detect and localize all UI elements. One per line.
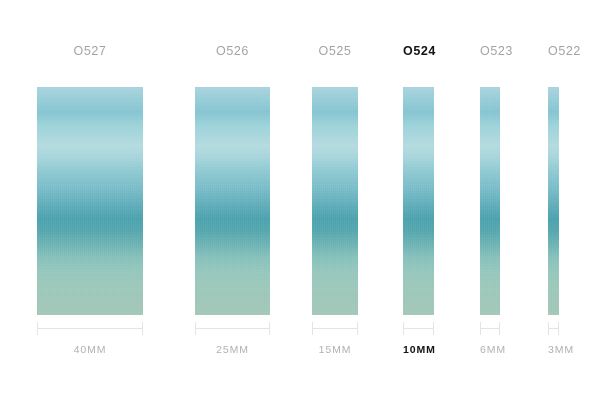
swatch-column[interactable]: O5236MM xyxy=(480,0,500,400)
measure-cap-left xyxy=(195,322,196,335)
swatch-rail: O52740MMO52625MMO52515MMO52410MMO5236MMO… xyxy=(0,0,600,400)
swatch-size-label: 25MM xyxy=(195,344,270,356)
swatch-column[interactable]: O52515MM xyxy=(312,0,358,400)
swatch-size-label: 3MM xyxy=(548,344,559,356)
swatch-code-label: O526 xyxy=(195,44,270,58)
swatch-code-label: O524 xyxy=(403,44,434,58)
swatch-column[interactable]: O52410MM xyxy=(403,0,434,400)
measure-cap-left xyxy=(480,322,481,335)
swatch-code-label: O522 xyxy=(548,44,559,58)
measure-cap-right xyxy=(558,322,559,335)
measure-bar xyxy=(480,322,500,335)
measure-line xyxy=(480,328,500,329)
color-swatch-chip[interactable] xyxy=(312,87,358,315)
measure-line xyxy=(403,328,434,329)
swatch-code-label: O523 xyxy=(480,44,500,58)
color-swatch-chip[interactable] xyxy=(195,87,270,315)
swatch-size-label: 15MM xyxy=(312,344,358,356)
swatch-comparison-board: O52740MMO52625MMO52515MMO52410MMO5236MMO… xyxy=(0,0,600,400)
swatch-column[interactable]: O5223MM xyxy=(548,0,559,400)
swatch-code-label: O525 xyxy=(312,44,358,58)
measure-bar xyxy=(312,322,358,335)
measure-line xyxy=(195,328,270,329)
swatch-column[interactable]: O52625MM xyxy=(195,0,270,400)
color-swatch-chip[interactable] xyxy=(37,87,143,315)
measure-cap-left xyxy=(548,322,549,335)
measure-cap-left xyxy=(37,322,38,335)
measure-cap-right xyxy=(269,322,270,335)
measure-bar xyxy=(195,322,270,335)
measure-bar xyxy=(403,322,434,335)
swatch-size-label: 40MM xyxy=(37,344,143,356)
swatch-column[interactable]: O52740MM xyxy=(37,0,143,400)
measure-line xyxy=(312,328,358,329)
color-swatch-chip[interactable] xyxy=(480,87,500,315)
swatch-size-label: 6MM xyxy=(480,344,500,356)
measure-cap-right xyxy=(142,322,143,335)
measure-cap-right xyxy=(499,322,500,335)
measure-cap-left xyxy=(312,322,313,335)
measure-cap-right xyxy=(357,322,358,335)
measure-cap-left xyxy=(403,322,404,335)
swatch-code-label: O527 xyxy=(37,44,143,58)
color-swatch-chip[interactable] xyxy=(403,87,434,315)
swatch-size-label: 10MM xyxy=(403,344,434,356)
color-swatch-chip[interactable] xyxy=(548,87,559,315)
measure-line xyxy=(37,328,143,329)
measure-bar xyxy=(548,322,559,335)
measure-cap-right xyxy=(433,322,434,335)
measure-bar xyxy=(37,322,143,335)
